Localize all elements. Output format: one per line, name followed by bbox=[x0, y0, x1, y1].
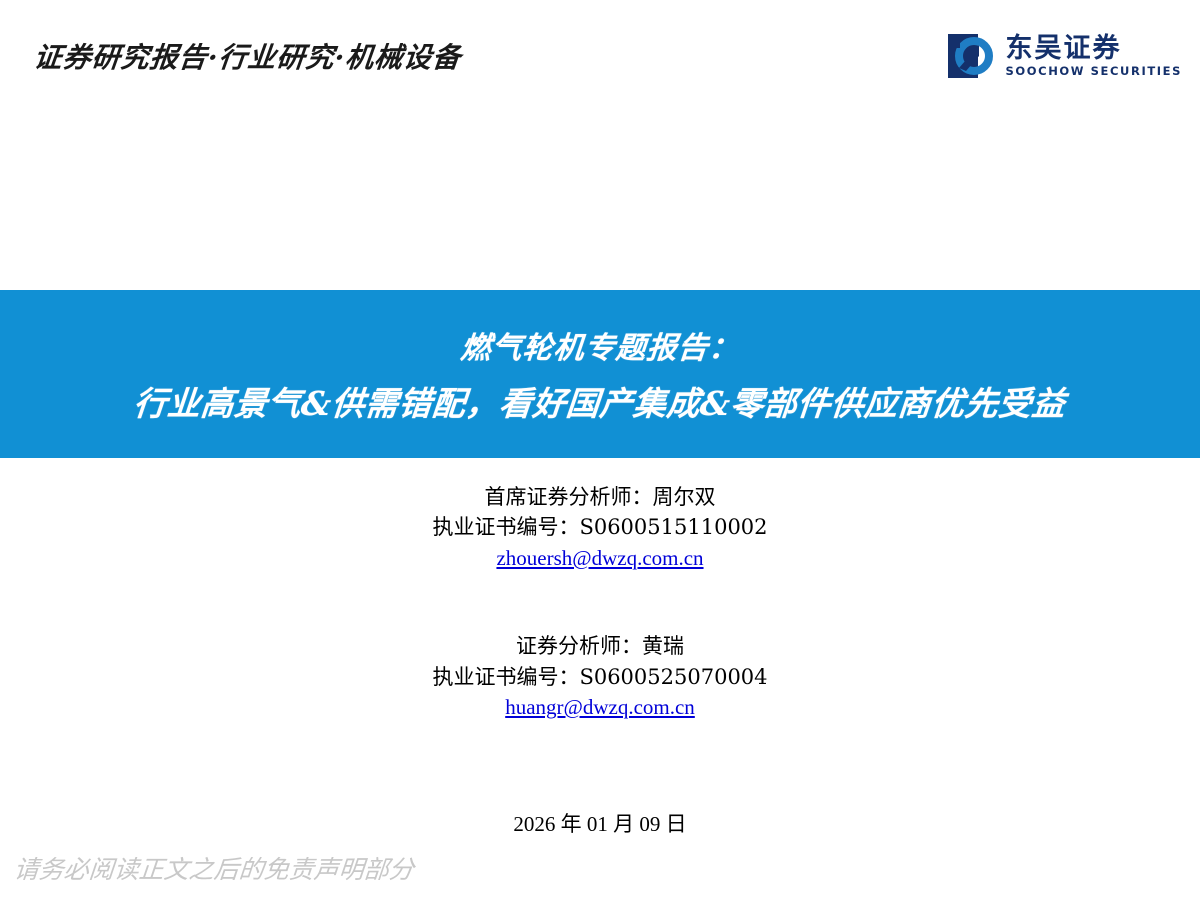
report-title-line-1: 燃气轮机专题报告： bbox=[459, 323, 742, 367]
logo-name-en: SOOCHOW SECURITIES bbox=[1006, 66, 1182, 78]
analyst-license-number: 执业证书编号：S0600515110002 bbox=[0, 512, 1200, 542]
report-title-line-2: 行业高景气&供需错配，看好国产集成&零部件供应商优先受益 bbox=[132, 377, 1068, 425]
breadcrumb: 证券研究报告·行业研究·机械设备 bbox=[32, 36, 464, 76]
analyst-role-and-name: 首席证券分析师：周尔双 bbox=[0, 482, 1200, 512]
footer-disclaimer: 请务必阅读正文之后的免责声明部分 bbox=[12, 850, 415, 886]
analyst-block-secondary: 证券分析师：黄瑞 执业证书编号：S0600525070004 huangr@dw… bbox=[0, 631, 1200, 722]
report-date: 2026 年 01 月 09 日 bbox=[0, 808, 1200, 838]
report-cover-page: 证券研究报告·行业研究·机械设备 东吴证券 SOOCHOW SECURITIES… bbox=[0, 0, 1200, 900]
logo-wordmark: 东吴证券 SOOCHOW SECURITIES bbox=[1006, 35, 1182, 78]
page-header: 证券研究报告·行业研究·机械设备 东吴证券 SOOCHOW SECURITIES bbox=[0, 0, 1200, 110]
analyst-list: 首席证券分析师：周尔双 执业证书编号：S0600515110002 zhouer… bbox=[0, 482, 1200, 723]
analyst-license-number: 执业证书编号：S0600525070004 bbox=[0, 662, 1200, 692]
logo-name-cn: 东吴证券 bbox=[1006, 35, 1182, 62]
company-logo: 东吴证券 SOOCHOW SECURITIES bbox=[948, 28, 1182, 84]
analyst-email-link[interactable]: huangr@dwzq.com.cn bbox=[505, 692, 695, 722]
title-banner: 燃气轮机专题报告： 行业高景气&供需错配，看好国产集成&零部件供应商优先受益 bbox=[0, 290, 1200, 458]
analyst-email-link[interactable]: zhouersh@dwzq.com.cn bbox=[496, 543, 703, 573]
soochow-securities-logo-mark-icon bbox=[948, 32, 996, 80]
analyst-role-and-name: 证券分析师：黄瑞 bbox=[0, 631, 1200, 661]
analyst-block-primary: 首席证券分析师：周尔双 执业证书编号：S0600515110002 zhouer… bbox=[0, 482, 1200, 573]
